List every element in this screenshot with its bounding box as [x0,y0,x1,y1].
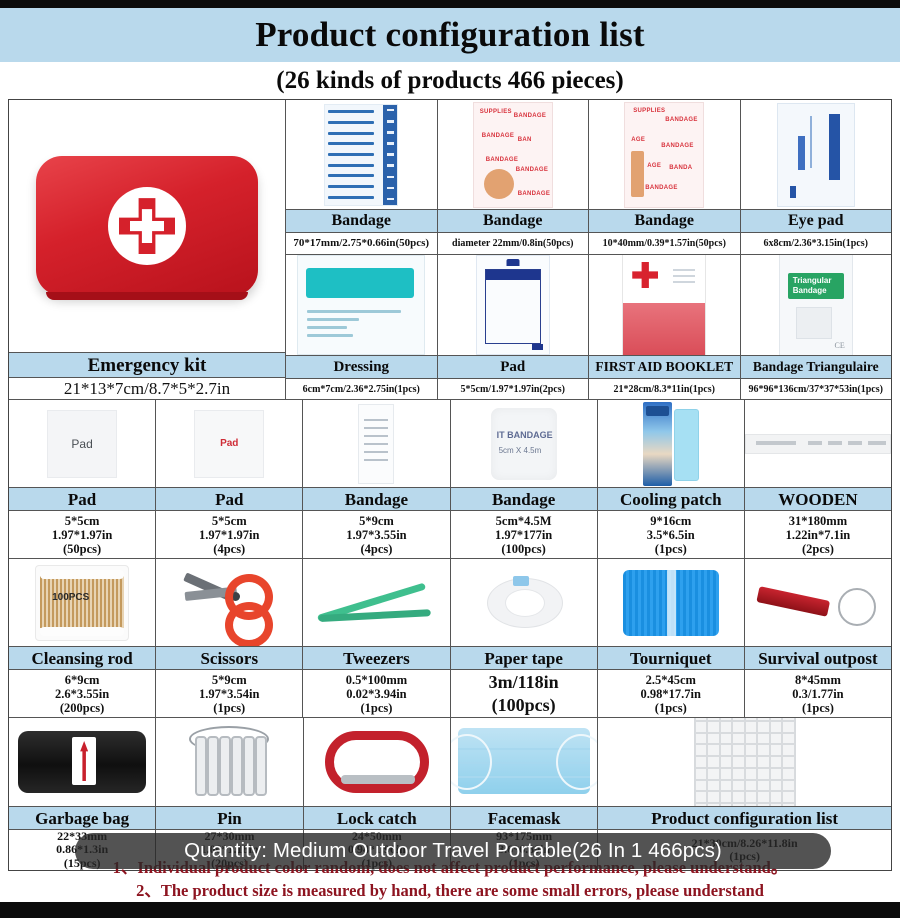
product-label: Dressing [286,355,437,379]
product-cell-bandage-rect[interactable]: SUPPLIES BANDAGE AGE BANDAGE AGE BANDA B… [589,100,741,254]
product-label: Bandage Triangulaire [741,355,892,379]
spec-line: 5*5cm [212,514,247,528]
bottom-letterbox-bar [0,902,900,918]
product-image-bandage-roll [303,400,449,487]
product-spec: 5*5cm 1.97*1.97in (50pcs) [9,511,155,558]
spec-line: 0.98*17.7in [641,687,701,701]
page-title: Product configuration list [255,15,645,55]
product-image-bandage-strip [286,100,437,209]
product-spec: 5*5cm/1.97*1.97in(2pcs) [438,379,589,399]
product-image-eye-pad [741,100,892,209]
configuration-sheet-icon [694,718,796,806]
spec-line: 1.22in*7.1in [786,528,851,542]
product-label: Bandage [303,487,449,511]
spec-line: (2pcs) [802,542,834,556]
scissors-icon [181,566,277,640]
product-image-facemask [451,718,597,806]
product-cell-eye-pad[interactable]: Eye pad 6x8cm/2.36*3.15in(1pcs) [741,100,892,254]
product-spec: diameter 22mm/0.8in(50pcs) [438,233,589,254]
product-cell-pad-50[interactable]: Pad Pad 5*5cm 1.97*1.97in (50pcs) [9,400,156,558]
product-cell-scissors[interactable]: Scissors 5*9cm 1.97*3.54in (1pcs) [156,559,303,717]
product-image-pad-gauze [438,255,589,355]
product-label: Scissors [156,646,302,670]
spec-line: 0.5*100mm [346,673,407,687]
product-spec: 6cm*7cm/2.36*2.75in(1pcs) [286,379,437,399]
product-cell-dressing[interactable]: Dressing 6cm*7cm/2.36*2.75in(1pcs) [286,255,438,399]
grid-row-1: Emergency kit 21*13*7cm/8.7*5*2.7in Band… [9,100,891,400]
product-spec: 5*5cm 1.97*1.97in (4pcs) [156,511,302,558]
product-cell-triangular-bandage[interactable]: TriangularBandage CE Bandage Triangulair… [741,255,892,399]
product-spec: 9*16cm 3.5*6.5in (1pcs) [598,511,744,558]
product-cell-survival-outpost[interactable]: Survival outpost 8*45mm 0.3/1.77in (1pcs… [745,559,891,717]
product-image-first-aid-booklet [589,255,740,355]
spec-line: 5*9cm [212,673,247,687]
tourniquet-roll-icon [623,570,719,636]
product-spec: 0.5*100mm 0.02*3.94in (1pcs) [303,670,449,717]
product-image-pad-4: Pad [156,400,302,487]
product-image-triangular-bandage: TriangularBandage CE [741,255,892,355]
product-label: Cooling patch [598,487,744,511]
top-letterbox-bar [0,0,900,8]
grid-row-2: Pad Pad 5*5cm 1.97*1.97in (50pcs) Pad Pa… [9,400,891,559]
product-cell-cleansing-rod[interactable]: 100PCS Cleansing rod 6*9cm 2.6*3.55in (2… [9,559,156,717]
spec-line: (1pcs) [213,701,245,715]
product-cell-pad-4[interactable]: Pad Pad 5*5cm 1.97*1.97in (4pcs) [156,400,303,558]
spec-line: 0.3/1.77in [792,687,843,701]
spec-line: (200pcs) [60,701,104,715]
product-image-bandage-round: SUPPLIES BANDAGE BANDAGE BAN BANDAGE BAN… [438,100,589,209]
spec-line: 5*5cm [65,514,100,528]
spec-line: (1pcs) [655,701,687,715]
footer-note-2: 2、The product size is measured by hand, … [0,880,900,902]
product-label: Pad [9,487,155,511]
pad-square-red-text-icon: Pad [194,410,264,478]
bandage-round-pack-icon: SUPPLIES BANDAGE BANDAGE BAN BANDAGE BAN… [473,102,553,208]
title-band: Product configuration list [0,8,900,62]
cotton-swabs-pack-icon: 100PCS [35,565,129,641]
product-cell-emergency-kit[interactable]: Emergency kit 21*13*7cm/8.7*5*2.7in [9,100,286,399]
product-image-pin [156,718,302,806]
spec-line: 1.97*3.54in [199,687,259,701]
product-label: Lock catch [304,806,450,830]
cooling-patch-pack-icon [643,402,699,486]
quantity-overlay-text: Quantity: Medium Outdoor Travel Portable… [184,839,722,863]
medical-cross-emblem-icon [108,187,186,265]
spec-line: (100pcs) [501,542,545,556]
spec-line: (1pcs) [802,701,834,715]
grid-row-3: 100PCS Cleansing rod 6*9cm 2.6*3.55in (2… [9,559,891,718]
product-image-emergency-kit [9,100,285,352]
subtitle-band: (26 kinds of products 466 pieces) [0,62,900,99]
product-label: Cleansing rod [9,646,155,670]
spec-line: (50pcs) [63,542,101,556]
product-spec: 2.5*45cm 0.98*17.7in (1pcs) [598,670,744,717]
product-label: WOODEN [745,487,891,511]
product-spec: 6*9cm 2.6*3.55in (200pcs) [9,670,155,717]
spec-line: 5*9cm [359,514,394,528]
product-label: FIRST AID BOOKLET [589,355,740,379]
spec-line: (100pcs) [492,694,556,717]
spec-line: 1.97*1.97in [52,528,112,542]
product-cell-bandage-roll[interactable]: Bandage 5*9cm 1.97*3.55in (4pcs) [303,400,450,558]
product-label: Pad [438,355,589,379]
first-aid-case-icon [36,156,258,296]
product-cell-bandage-round[interactable]: SUPPLIES BANDAGE BANDAGE BAN BANDAGE BAN… [438,100,590,254]
product-label: Bandage [451,487,597,511]
survival-whistle-icon [758,576,878,630]
product-cell-tourniquet[interactable]: Tourniquet 2.5*45cm 0.98*17.7in (1pcs) [598,559,745,717]
product-spec: 10*40mm/0.39*1.57in(50pcs) [589,233,740,254]
product-image-pad-50: Pad [9,400,155,487]
product-label: Bandage [286,209,437,233]
carabiner-icon [325,731,429,793]
spec-line: 1.97*177in [495,528,552,542]
product-label: Paper tape [451,646,597,670]
product-label: Bandage [589,209,740,233]
product-cell-gauze-bandage[interactable]: IT BANDAGE5cm X 4.5m Bandage 5cm*4.5M 1.… [451,400,598,558]
product-image-cooling-patch [598,400,744,487]
product-image-tourniquet [598,559,744,646]
product-image-wooden [745,400,891,487]
spec-line: 2.5*45cm [646,673,696,687]
round-bandage-dot-icon [484,169,514,199]
first-aid-booklet-icon [622,255,706,355]
product-spec: 5*9cm 1.97*3.55in (4pcs) [303,511,449,558]
bandage-rect-pack-icon: SUPPLIES BANDAGE AGE BANDAGE AGE BANDA B… [624,102,704,208]
product-label: Tourniquet [598,646,744,670]
product-cell-first-aid-booklet[interactable]: FIRST AID BOOKLET 21*28cm/8.3*11in(1pcs) [589,255,741,399]
product-label: Survival outpost [745,646,891,670]
product-cell-paper-tape[interactable]: Paper tape 3m/118in (100pcs) [451,559,598,717]
product-image-lock-catch [304,718,450,806]
spec-line: (1pcs) [655,542,687,556]
product-spec: 31*180mm 1.22in*7.1in (2pcs) [745,511,891,558]
spec-line: 8*45mm [795,673,841,687]
product-image-cleansing-rod: 100PCS [9,559,155,646]
grid-subrow-1a: Bandage 70*17mm/2.75*0.66in(50pcs) SUPPL… [286,100,891,255]
rect-bandage-strip-icon [631,151,644,197]
eye-pad-pack-icon [777,103,855,207]
product-label: Pad [156,487,302,511]
product-cell-tweezers[interactable]: Tweezers 0.5*100mm 0.02*3.94in (1pcs) [303,559,450,717]
grid-row-1-right: Bandage 70*17mm/2.75*0.66in(50pcs) SUPPL… [286,100,891,399]
spec-line: 1.97*1.97in [199,528,259,542]
bandage-roll-pack-icon [358,404,394,484]
safety-pins-icon [179,724,279,800]
product-spec: 21*13*7cm/8.7*5*2.7in [9,378,285,399]
product-label: Garbage bag [9,806,155,830]
paper-tape-roll-icon [487,572,561,634]
product-label: Tweezers [303,646,449,670]
spec-line: 31*180mm [789,514,847,528]
product-image-garbage-bag [9,718,155,806]
product-label: Bandage [438,209,589,233]
spec-line: 9*16cm [650,514,691,528]
quantity-overlay-banner: Quantity: Medium Outdoor Travel Portable… [75,833,831,869]
product-image-gauze-bandage: IT BANDAGE5cm X 4.5m [451,400,597,487]
product-image-paper-tape [451,559,597,646]
bandage-strip-blue-icon [324,104,398,206]
product-spec: 70*17mm/2.75*0.66in(50pcs) [286,233,437,254]
product-label: Emergency kit [9,352,285,378]
spec-line: 3.5*6.5in [647,528,695,542]
spec-line: (4pcs) [360,542,392,556]
wooden-splint-icon [745,434,891,454]
product-grid: Emergency kit 21*13*7cm/8.7*5*2.7in Band… [8,99,892,871]
product-spec: 96*96*136cm/37*37*53in(1pcs) [741,379,892,399]
product-image-dressing [286,255,437,355]
spec-line: 0.02*3.94in [346,687,406,701]
dressing-pack-icon [297,255,425,355]
pad-square-white-icon: Pad [47,410,117,478]
product-label: Eye pad [741,209,892,233]
grid-subrow-1b: Dressing 6cm*7cm/2.36*2.75in(1pcs) Pad [286,255,891,399]
product-spec: 8*45mm 0.3/1.77in (1pcs) [745,670,891,717]
product-spec: 5*9cm 1.97*3.54in (1pcs) [156,670,302,717]
product-image-scissors [156,559,302,646]
spec-line: 3m/118in [489,671,559,694]
spec-line: 2.6*3.55in [55,687,109,701]
product-label: Facemask [451,806,597,830]
product-image-survival-outpost [745,559,891,646]
spec-line: 5cm*4.5M [496,514,552,528]
triangular-bandage-pack-icon: TriangularBandage CE [779,255,853,355]
product-configuration-page: Product configuration list (26 kinds of … [0,0,900,918]
product-cell-pad-gauze[interactable]: Pad 5*5cm/1.97*1.97in(2pcs) [438,255,590,399]
face-mask-icon [458,722,590,802]
product-spec: 6x8cm/2.36*3.15in(1pcs) [741,233,892,254]
product-spec: 5cm*4.5M 1.97*177in (100pcs) [451,511,597,558]
product-image-tweezers [303,559,449,646]
product-cell-cooling-patch[interactable]: Cooling patch 9*16cm 3.5*6.5in (1pcs) [598,400,745,558]
product-cell-bandage-strip[interactable]: Bandage 70*17mm/2.75*0.66in(50pcs) [286,100,438,254]
spec-line: (4pcs) [213,542,245,556]
spec-line: 1.97*3.55in [346,528,406,542]
spec-line: (1pcs) [360,701,392,715]
tweezers-icon [317,572,435,634]
product-spec: 21*28cm/8.3*11in(1pcs) [589,379,740,399]
gauze-bandage-bag-icon: IT BANDAGE5cm X 4.5m [491,408,557,480]
product-label: Pin [156,806,302,830]
garbage-bag-roll-icon [18,731,146,793]
spec-line: 6*9cm [65,673,100,687]
product-label: Product configuration list [598,806,891,830]
product-image-bandage-rect: SUPPLIES BANDAGE AGE BANDAGE AGE BANDA B… [589,100,740,209]
product-image-configuration-list [598,718,891,806]
gauze-pad-pack-icon [476,255,550,355]
page-subtitle: (26 kinds of products 466 pieces) [276,67,624,95]
product-spec: 3m/118in (100pcs) [451,670,597,717]
product-cell-wooden[interactable]: WOODEN 31*180mm 1.22in*7.1in (2pcs) [745,400,891,558]
